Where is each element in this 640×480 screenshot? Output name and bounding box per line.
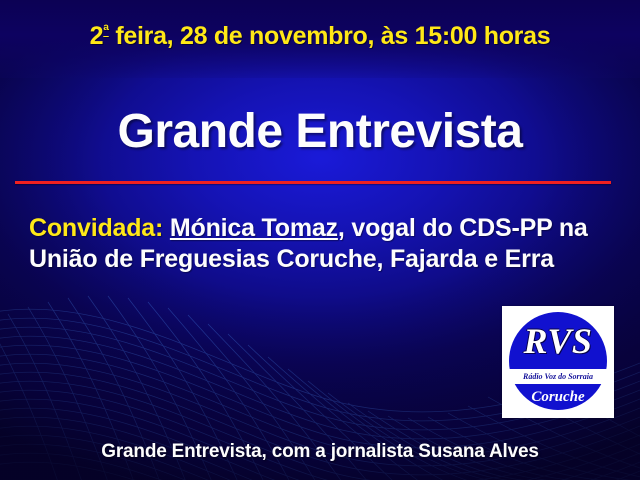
footer-credit: Grande Entrevista, com a jornalista Susa…: [0, 441, 640, 463]
page-title: Grande Entrevista: [0, 104, 640, 159]
guest-name: Mónica Tomaz: [170, 214, 338, 242]
logo-tagline: Rádio Voz do Sorraia: [523, 372, 593, 381]
logo-location: Coruche: [502, 389, 614, 406]
title-divider-rule: [15, 181, 611, 184]
logo-tagline-band: Rádio Voz do Sorraia: [508, 369, 608, 384]
event-datetime-rest: feira, 28 de novembro, às 15:00 horas: [109, 22, 551, 50]
poster-canvas: 2ª feira, 28 de novembro, às 15:00 horas…: [0, 0, 640, 480]
rvs-logo: RVS Rádio Voz do Sorraia Coruche: [502, 306, 614, 418]
event-datetime: 2ª feira, 28 de novembro, às 15:00 horas: [0, 22, 640, 51]
guest-label: Convidada:: [29, 214, 163, 242]
event-datetime-number: 2: [90, 22, 104, 50]
logo-acronym: RVS: [502, 320, 614, 362]
guest-description: Convidada: Mónica Tomaz, vogal do CDS-PP…: [29, 213, 614, 275]
